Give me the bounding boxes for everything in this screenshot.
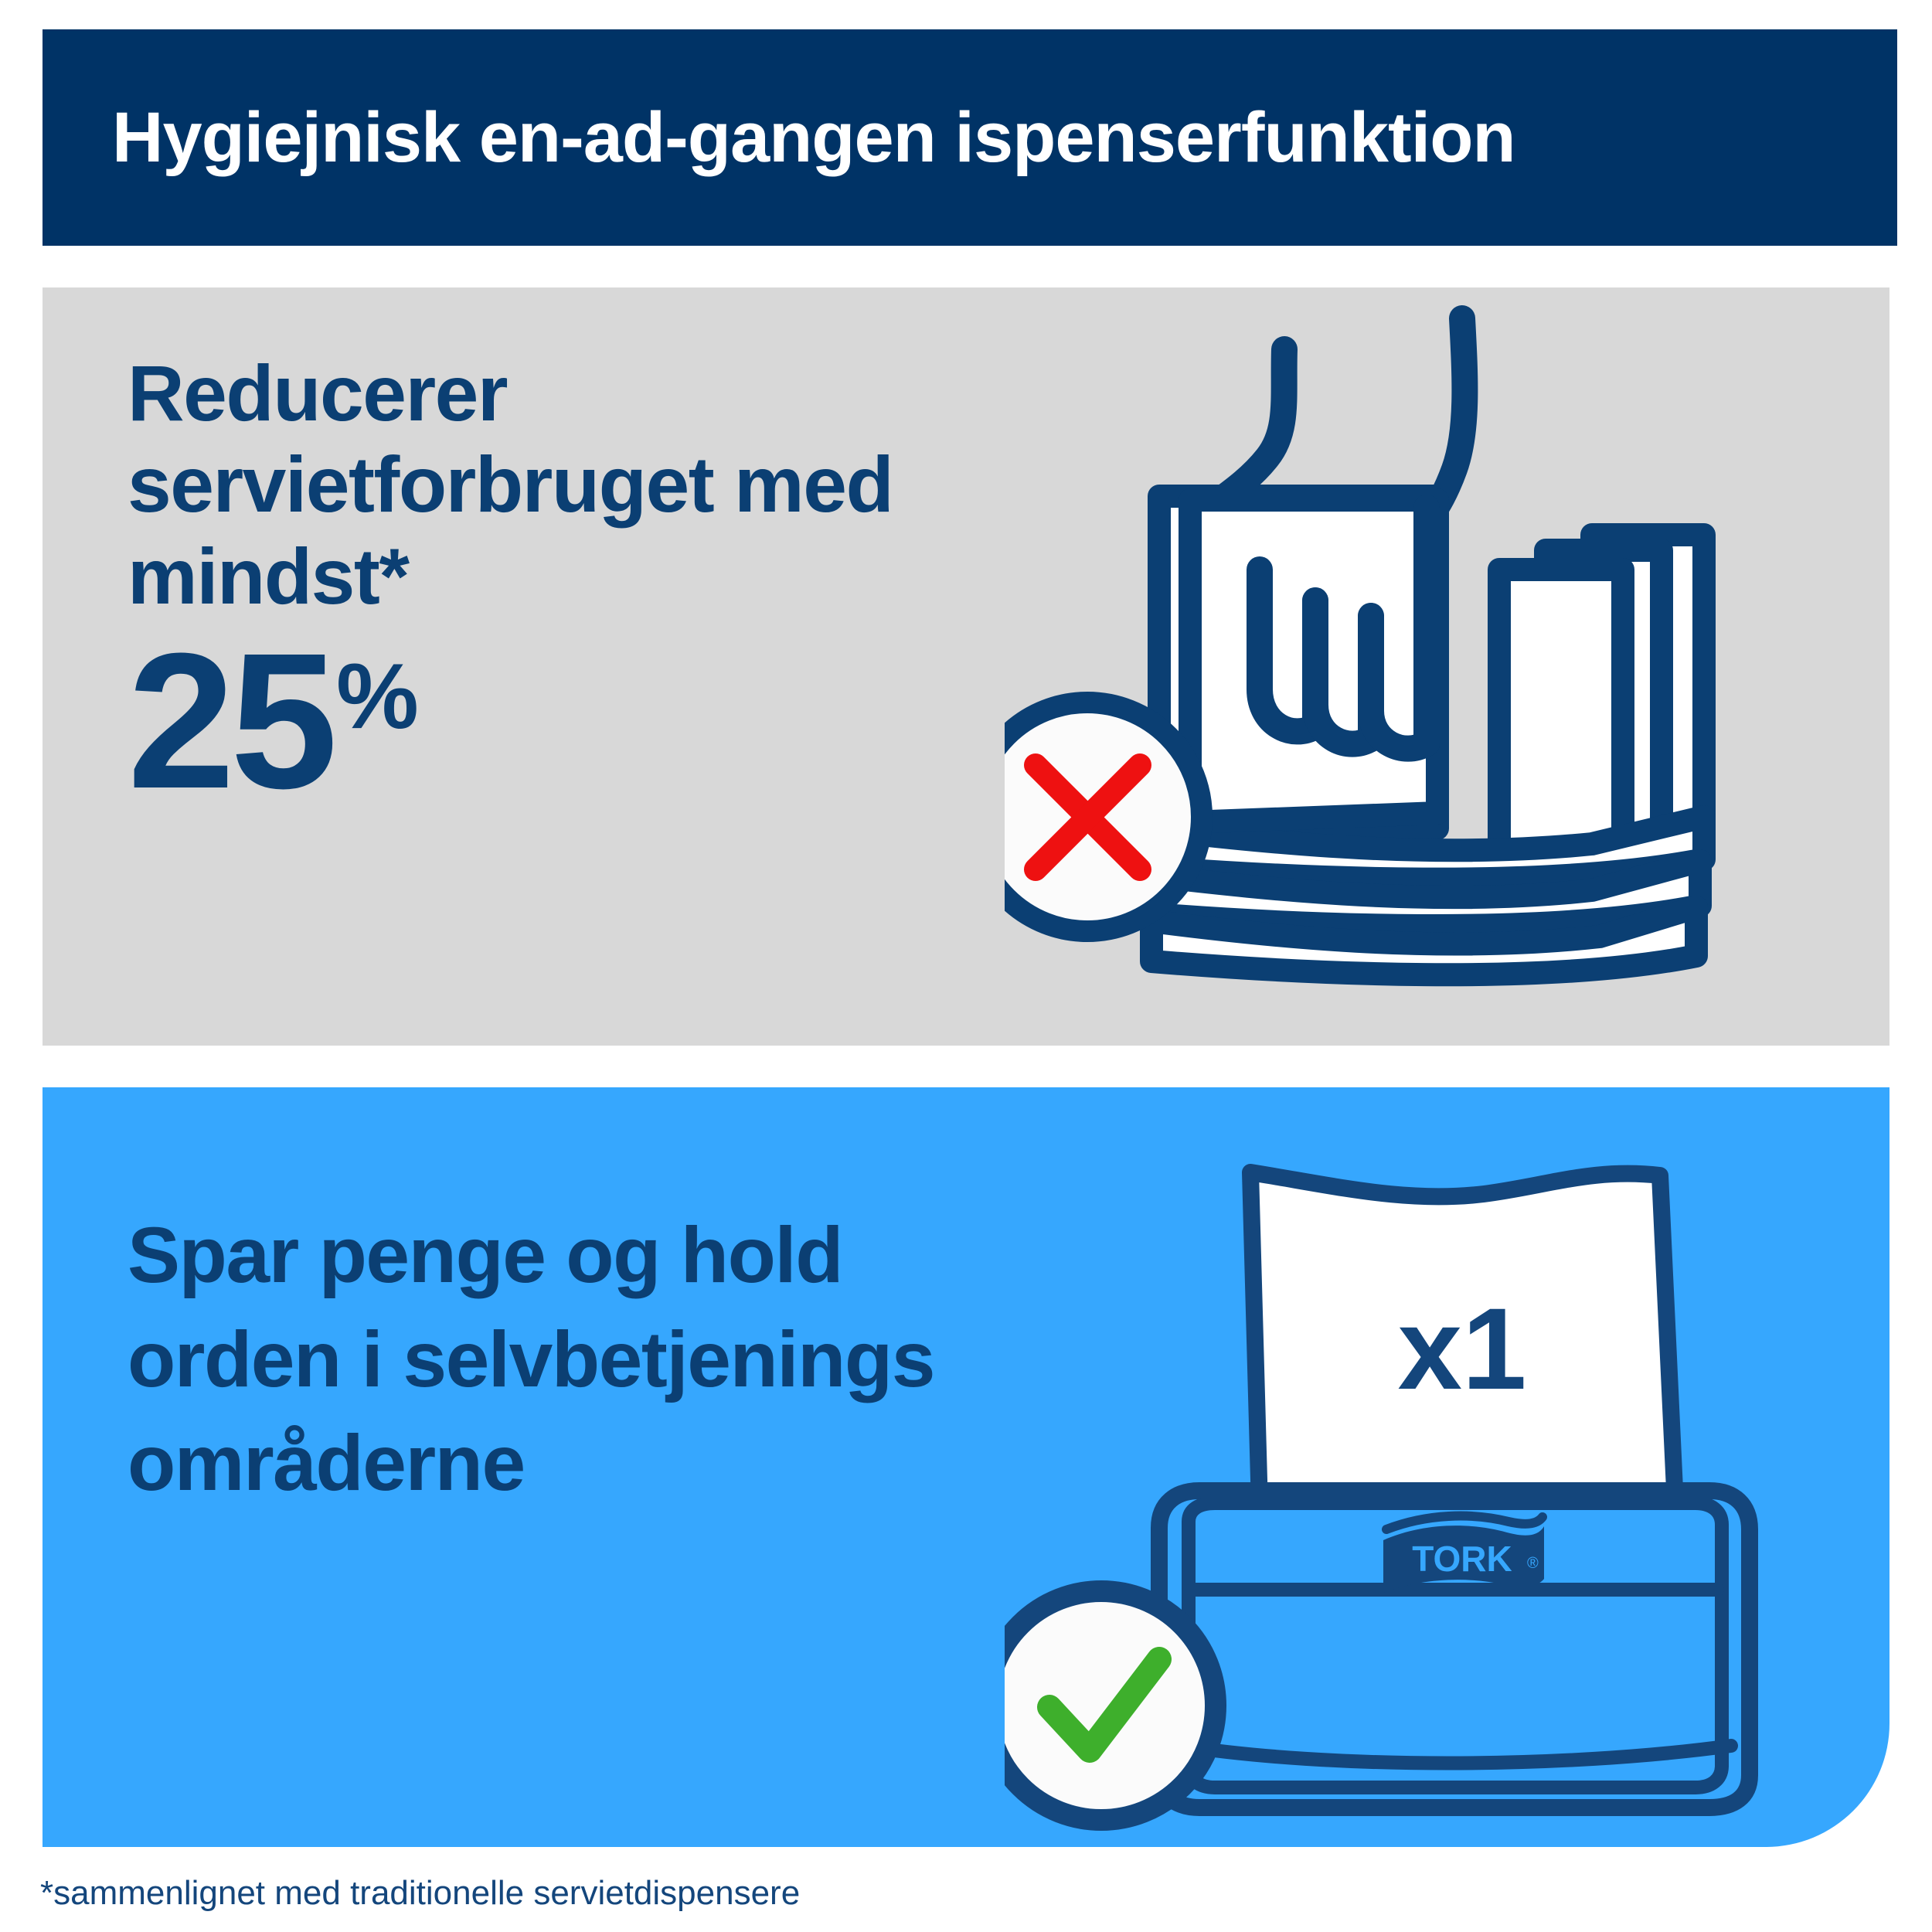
infographic-page: Hygiejnisk en-ad-gangen ispenserfunktion… bbox=[0, 0, 1932, 1932]
gray-text-block: Reducerer servietforbruget med mindst* 2… bbox=[128, 348, 1039, 806]
stat-number: 25 bbox=[128, 636, 333, 806]
napkin-count-label: x1 bbox=[1398, 1284, 1527, 1413]
blue-headline: Spar penge og hold orden i selvbetjening… bbox=[128, 1203, 1001, 1515]
header-banner: Hygiejnisk en-ad-gangen ispenserfunktion bbox=[43, 29, 1897, 246]
page-title: Hygiejnisk en-ad-gangen ispenserfunktion bbox=[112, 102, 1515, 173]
hand-grabbing-napkin-stack-icon bbox=[1005, 303, 1855, 1029]
tork-wordmark: TORK bbox=[1412, 1539, 1512, 1579]
gray-headline: Reducerer servietforbruget med mindst* bbox=[128, 348, 1039, 622]
blue-text-block: Spar penge og hold orden i selvbetjening… bbox=[128, 1203, 1001, 1515]
panel-save-money: Spar penge og hold orden i selvbetjening… bbox=[43, 1087, 1889, 1847]
tork-napkin-dispenser-icon: x1 TORK ® bbox=[1005, 1095, 1855, 1837]
stat-row: 25 % bbox=[128, 636, 1039, 806]
stat-unit: % bbox=[336, 650, 419, 743]
tork-registered-mark: ® bbox=[1527, 1555, 1539, 1572]
panel-reduce-usage: Reducerer servietforbruget med mindst* 2… bbox=[43, 287, 1889, 1046]
footnote: *sammenlignet med traditionelle servietd… bbox=[40, 1874, 800, 1913]
